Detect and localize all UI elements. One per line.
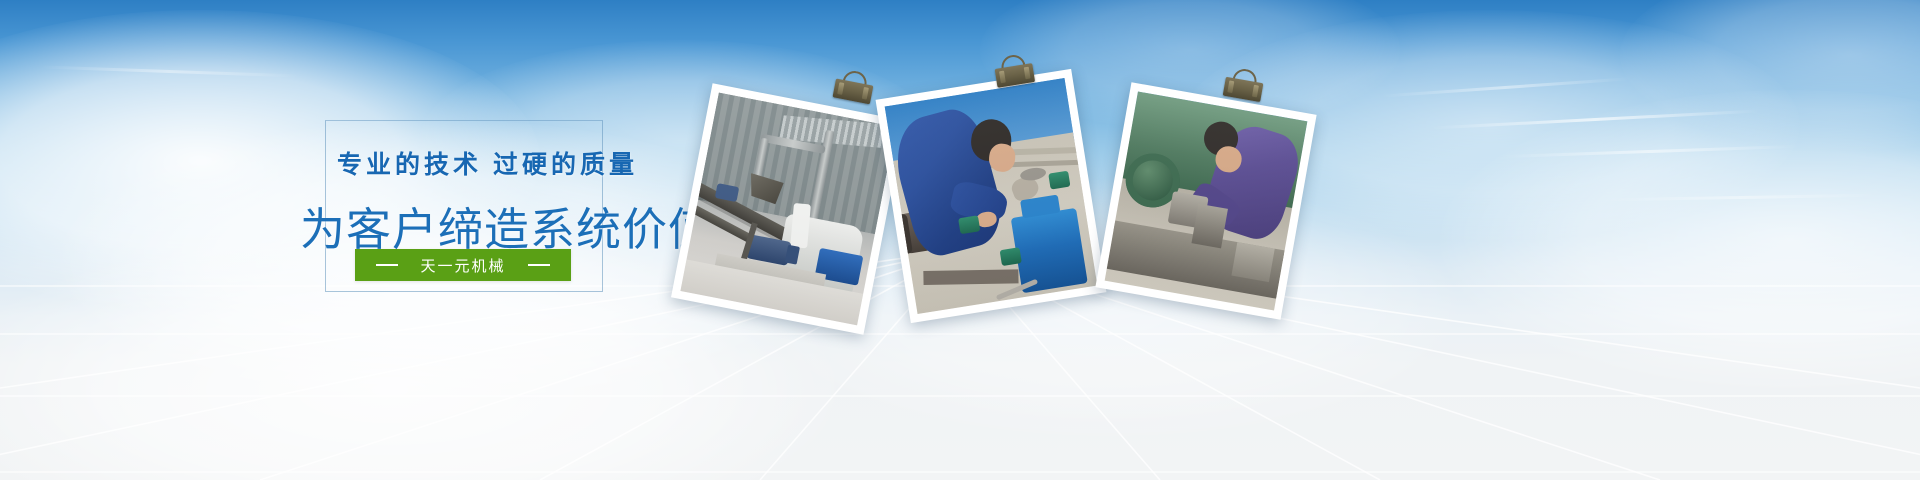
cloud-streak	[1380, 77, 1630, 97]
photo-worker-assembling-gearbox	[885, 78, 1098, 314]
photo-card-worker-assembling-gearbox[interactable]	[876, 69, 1107, 323]
blue-gearbox	[1011, 208, 1088, 293]
cloud-streak	[1500, 145, 1800, 158]
cloud-streak	[1600, 194, 1880, 202]
cloud-streak	[1430, 109, 1760, 129]
binder-clip-icon	[1223, 66, 1266, 102]
photo-card-workshop-machinery-line[interactable]	[671, 83, 905, 334]
cloud-streak	[40, 65, 300, 77]
cloud-shape	[1620, 0, 1920, 150]
photo-card-worker-operating-lathe[interactable]	[1095, 82, 1316, 319]
photo-worker-operating-lathe	[1105, 92, 1308, 311]
brand-button[interactable]: 天一元机械	[355, 249, 571, 281]
clip-body	[832, 78, 873, 104]
photo-workshop-machinery-line	[680, 93, 895, 326]
dash-left-icon	[376, 264, 398, 266]
binder-clip-icon	[993, 52, 1035, 88]
brand-button-label: 天一元机械	[420, 255, 505, 276]
binder-clip-icon	[832, 68, 875, 105]
hero-banner: 专业的技术 过硬的质量 为客户缔造系统价值 天一元机械	[0, 0, 1920, 480]
steel-block	[1231, 242, 1274, 282]
pillow-block-bearing	[958, 215, 980, 234]
photo-collage	[660, 55, 1360, 375]
clip-body	[1223, 77, 1264, 102]
dash-right-icon	[528, 264, 550, 266]
steel-beam	[923, 269, 1018, 285]
